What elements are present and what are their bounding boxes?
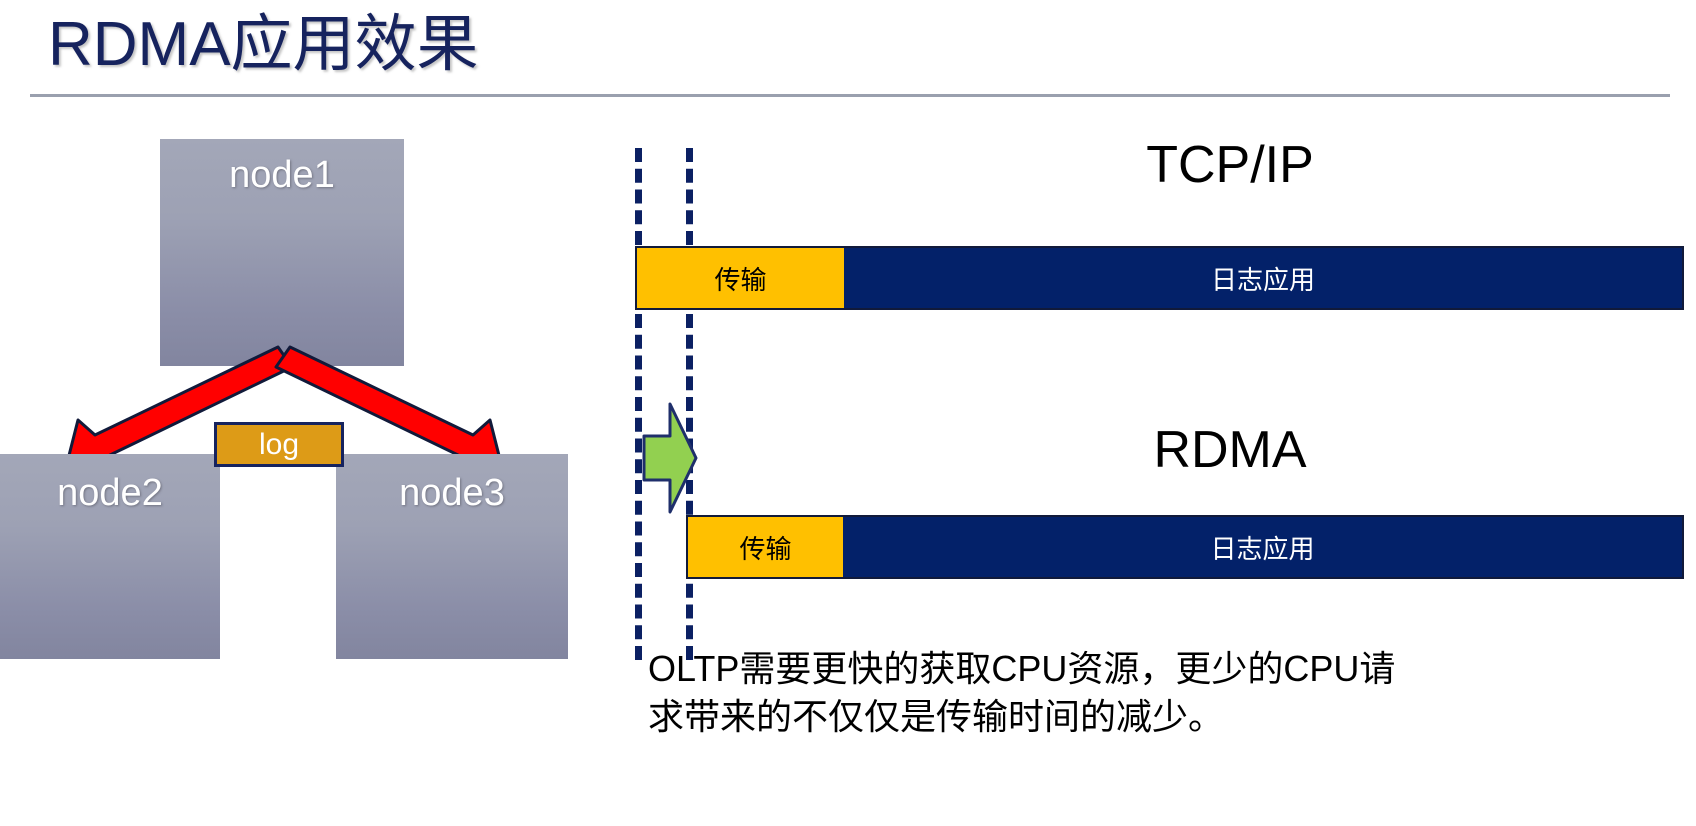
caption-text: OLTP需要更快的获取CPU资源，更少的CPU请 求带来的不仅仅是传输时间的减少…	[648, 645, 1668, 741]
bar-segment-transfer-tcpip: 传输	[637, 248, 844, 308]
topology-diagram: node1 node2 node3 log	[0, 110, 600, 770]
protocol-label-rdma: RDMA	[1000, 420, 1460, 480]
node-box-node2[interactable]: node2	[0, 454, 220, 659]
node-box-node1[interactable]: node1	[160, 139, 404, 366]
bar-segment-apply-rdma: 日志应用	[843, 517, 1682, 577]
caption-line-2: 求带来的不仅仅是传输时间的减少。	[648, 693, 1668, 741]
caption-line-1: OLTP需要更快的获取CPU资源，更少的CPU请	[648, 645, 1668, 693]
timeline-chart: TCP/IP 传输 日志应用 RDMA 传输 日志应用 OLTP需要更快的获取C…	[620, 0, 1696, 826]
node3-label: node3	[399, 472, 505, 514]
improvement-arrow-icon	[640, 400, 698, 516]
node2-label: node2	[57, 472, 163, 514]
node1-label: node1	[229, 154, 335, 196]
log-box[interactable]: log	[214, 422, 344, 467]
log-label: log	[259, 428, 299, 461]
page-title: RDMA应用效果	[48, 0, 479, 92]
bar-segment-transfer-rdma: 传输	[688, 517, 843, 577]
protocol-label-tcpip: TCP/IP	[1000, 135, 1460, 195]
bar-row-tcpip[interactable]: 传输 日志应用	[635, 246, 1684, 310]
node-box-node3[interactable]: node3	[336, 454, 568, 659]
bar-row-rdma[interactable]: 传输 日志应用	[686, 515, 1684, 579]
bar-segment-apply-tcpip: 日志应用	[844, 248, 1682, 308]
